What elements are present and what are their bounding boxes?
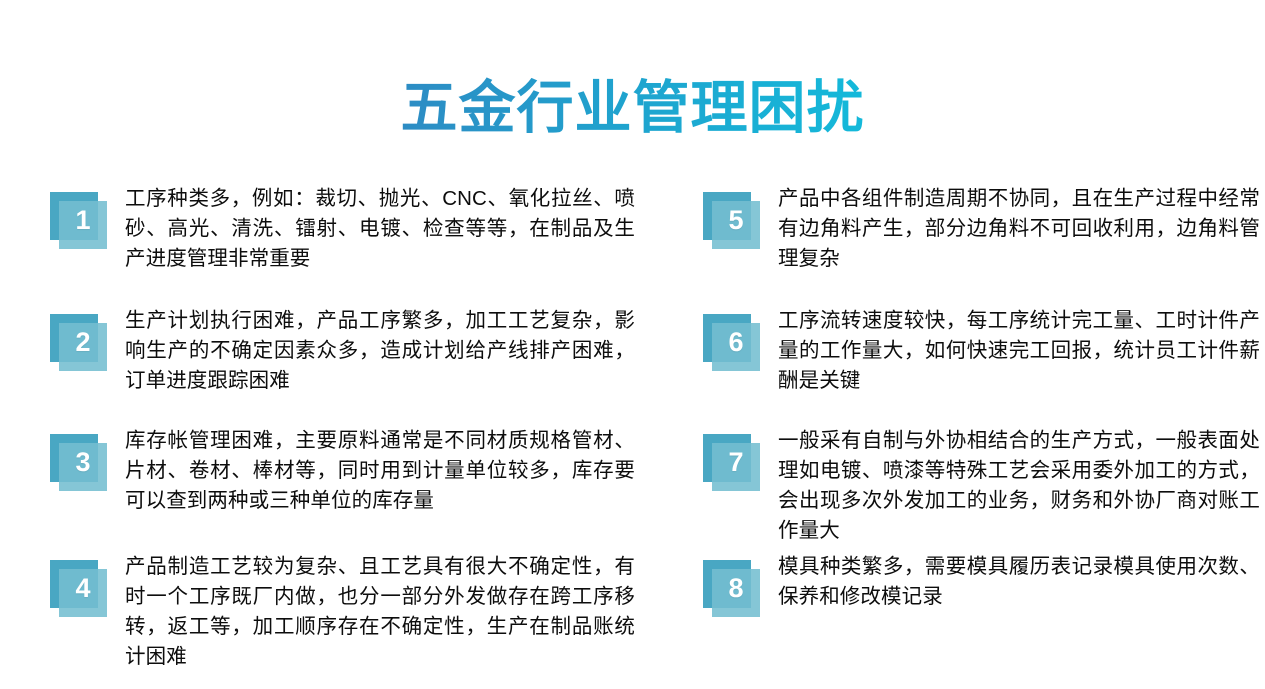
number-badge: 8 [703,560,765,622]
item-text: 工序种类多，例如：裁切、抛光、CNC、氧化拉丝、喷砂、高光、清洗、镭射、电镀、检… [125,184,635,274]
page-title: 五金行业管理困扰 [401,76,865,142]
badge-number: 1 [59,196,107,244]
item-text: 一般采有自制与外协相结合的生产方式，一般表面处理如电镀、喷漆等特殊工艺会采用委外… [778,426,1260,547]
list-item: 5 产品中各组件制造周期不协同，且在生产过程中经常有边角料产生，部分边角料不可回… [703,184,1260,274]
number-badge: 5 [703,192,765,254]
item-text: 库存帐管理困难，主要原料通常是不同材质规格管材、片材、卷材、棒材等，同时用到计量… [125,426,635,516]
number-badge: 4 [50,560,112,622]
item-text: 工序流转速度较快，每工序统计完工量、工时计件产量的工作量大，如何快速完工回报，统… [778,306,1260,396]
badge-number: 2 [59,318,107,366]
list-item: 1 工序种类多，例如：裁切、抛光、CNC、氧化拉丝、喷砂、高光、清洗、镭射、电镀… [50,184,635,274]
content-columns: 1 工序种类多，例如：裁切、抛光、CNC、氧化拉丝、喷砂、高光、清洗、镭射、电镀… [0,178,1265,678]
item-text: 产品中各组件制造周期不协同，且在生产过程中经常有边角料产生，部分边角料不可回收利… [778,184,1260,274]
list-item: 6 工序流转速度较快，每工序统计完工量、工时计件产量的工作量大，如何快速完工回报… [703,306,1260,396]
number-badge: 7 [703,434,765,496]
item-text: 生产计划执行困难，产品工序繁多，加工工艺复杂，影响生产的不确定因素众多，造成计划… [125,306,635,396]
badge-number: 8 [712,564,760,612]
item-text: 模具种类繁多，需要模具履历表记录模具使用次数、保养和修改模记录 [778,552,1260,612]
badge-number: 7 [712,438,760,486]
number-badge: 6 [703,314,765,376]
left-column: 1 工序种类多，例如：裁切、抛光、CNC、氧化拉丝、喷砂、高光、清洗、镭射、电镀… [50,178,660,678]
number-badge: 1 [50,192,112,254]
title-container: 五金行业管理困扰 [0,38,1265,180]
list-item: 7 一般采有自制与外协相结合的生产方式，一般表面处理如电镀、喷漆等特殊工艺会采用… [703,426,1260,547]
number-badge: 2 [50,314,112,376]
list-item: 2 生产计划执行困难，产品工序繁多，加工工艺复杂，影响生产的不确定因素众多，造成… [50,306,635,396]
right-column: 5 产品中各组件制造周期不协同，且在生产过程中经常有边角料产生，部分边角料不可回… [703,178,1263,678]
slide-root: 五金行业管理困扰 1 工序种类多，例如：裁切、抛光、CNC、氧化拉丝、喷砂、高光… [0,0,1265,689]
number-badge: 3 [50,434,112,496]
badge-number: 4 [59,564,107,612]
list-item: 8 模具种类繁多，需要模具履历表记录模具使用次数、保养和修改模记录 [703,552,1260,622]
list-item: 4 产品制造工艺较为复杂、且工艺具有很大不确定性，有时一个工序既厂内做，也分一部… [50,552,635,673]
badge-number: 3 [59,438,107,486]
badge-number: 6 [712,318,760,366]
badge-number: 5 [712,196,760,244]
item-text: 产品制造工艺较为复杂、且工艺具有很大不确定性，有时一个工序既厂内做，也分一部分外… [125,552,635,673]
list-item: 3 库存帐管理困难，主要原料通常是不同材质规格管材、片材、卷材、棒材等，同时用到… [50,426,635,516]
